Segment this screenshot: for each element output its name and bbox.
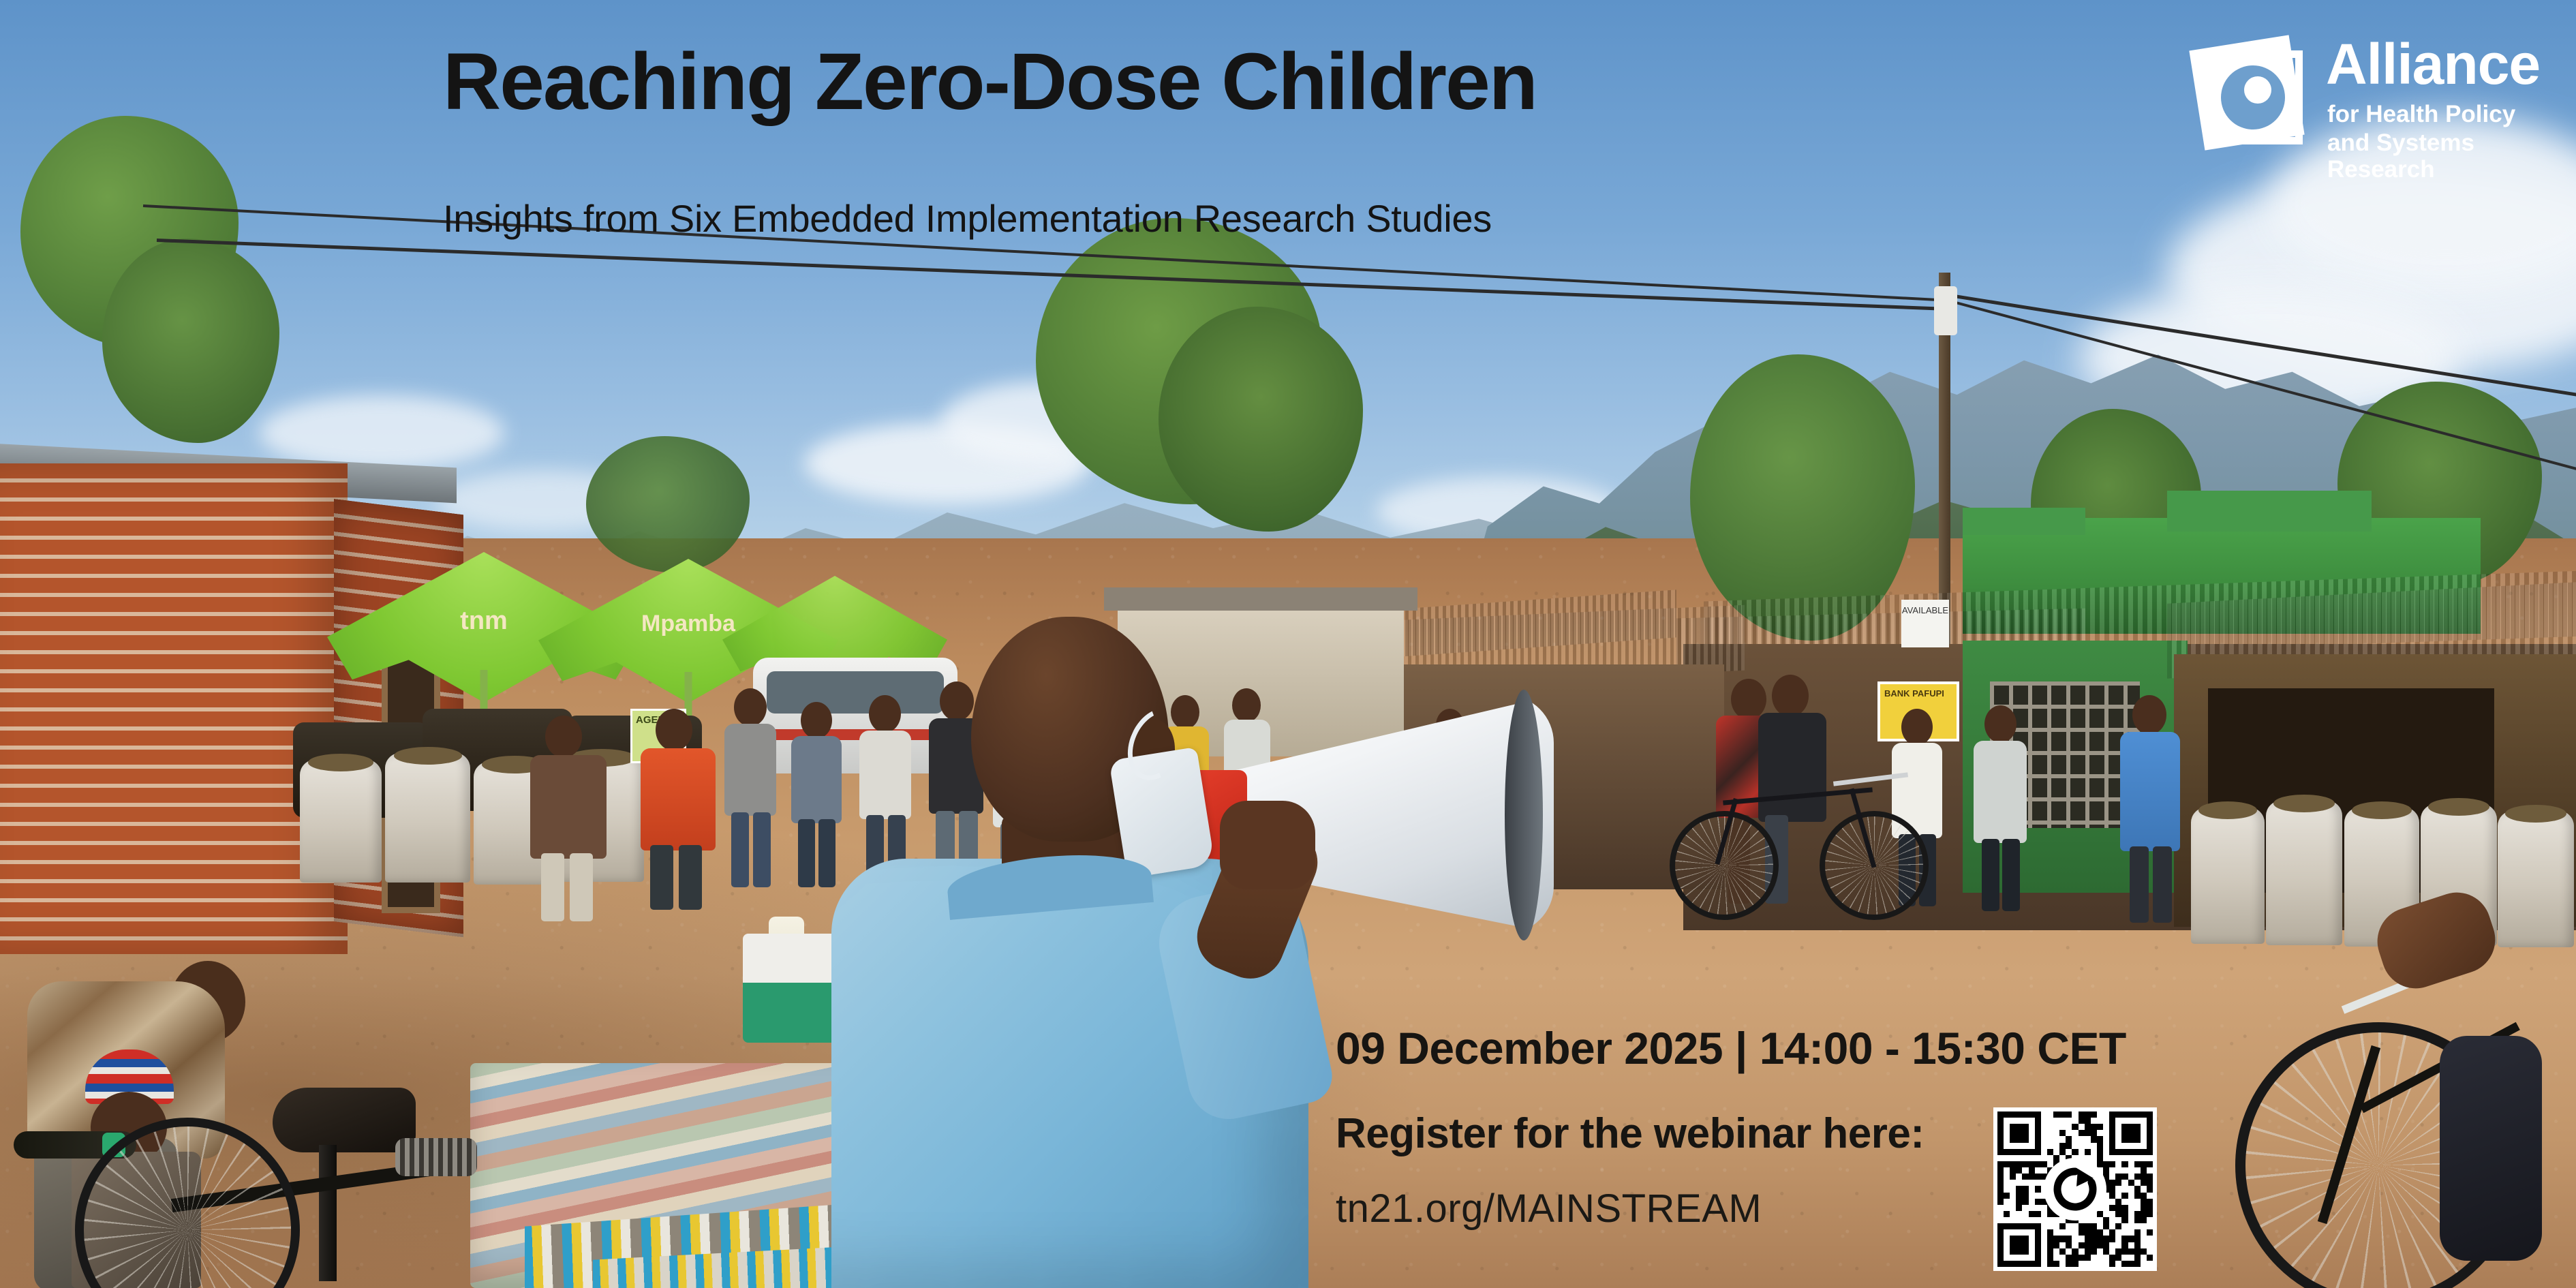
qr-module [2109, 1211, 2115, 1217]
qr-module [2141, 1255, 2147, 1261]
qr-module [2115, 1118, 2121, 1124]
qr-module [2115, 1174, 2121, 1180]
qr-module [2072, 1236, 2078, 1242]
qr-module [2115, 1180, 2121, 1186]
qr-module [2103, 1248, 2109, 1255]
qr-module [2016, 1193, 2022, 1199]
bicycle-saddle [273, 1088, 416, 1152]
qr-module [2109, 1155, 2115, 1161]
qr-module [2072, 1229, 2078, 1236]
qr-module [2097, 1118, 2103, 1124]
qr-module [2079, 1136, 2085, 1142]
circular-arrow-icon [2051, 1165, 2100, 1214]
qr-module [2047, 1118, 2053, 1124]
qr-module [2041, 1261, 2047, 1267]
qr-module [2147, 1205, 2153, 1211]
qr-module [2115, 1199, 2121, 1205]
qr-module [2053, 1229, 2059, 1236]
man-with-megaphone [811, 617, 1329, 1288]
qr-module [2035, 1167, 2041, 1174]
qr-module [2022, 1180, 2028, 1186]
person-head [1984, 705, 2017, 743]
qr-module [2066, 1223, 2072, 1229]
qr-module [2072, 1149, 2078, 1155]
qr-module [2103, 1161, 2109, 1167]
qr-module [2091, 1242, 2097, 1248]
qr-module [2029, 1130, 2035, 1136]
qr-module [2103, 1217, 2109, 1223]
qr-module [2066, 1143, 2072, 1149]
qr-module [2097, 1229, 2103, 1236]
qr-module [2010, 1174, 2016, 1180]
qr-module [2109, 1149, 2115, 1155]
bicycle-springs [395, 1138, 477, 1176]
qr-module [2141, 1261, 2147, 1267]
qr-module [2121, 1167, 2128, 1174]
qr-module [2004, 1205, 2010, 1211]
alliance-logo-icon [2191, 40, 2314, 162]
qr-module [2128, 1186, 2134, 1192]
qr-module [2147, 1130, 2153, 1136]
qr-module [2047, 1255, 2053, 1261]
qr-module [2128, 1199, 2134, 1205]
qr-module [2141, 1136, 2147, 1142]
qr-module [2035, 1211, 2041, 1217]
person [634, 709, 722, 906]
qr-module [2128, 1261, 2134, 1267]
qr-module [2059, 1255, 2066, 1261]
qr-module [2128, 1255, 2134, 1261]
qr-module [2041, 1248, 2047, 1255]
qr-module [2016, 1186, 2022, 1192]
qr-module [2097, 1248, 2103, 1255]
qr-module [2004, 1186, 2010, 1192]
qr-module [2128, 1248, 2134, 1255]
qr-module [2115, 1193, 2121, 1199]
qr-module [2016, 1248, 2022, 1255]
qr-module [2016, 1180, 2022, 1186]
qr-module [2047, 1136, 2053, 1142]
qr-module [2134, 1124, 2141, 1130]
qr-module [2103, 1261, 2109, 1267]
qr-module [2079, 1229, 2085, 1236]
qr-module [2115, 1155, 2121, 1161]
qr-module [1997, 1211, 2004, 1217]
qr-module [2115, 1217, 2121, 1223]
qr-module [2097, 1236, 2103, 1242]
qr-module [2091, 1130, 2097, 1136]
qr-module [2103, 1155, 2109, 1161]
qr-module [2091, 1229, 2097, 1236]
registration-qr-code[interactable] [1993, 1107, 2157, 1271]
qr-module [2004, 1118, 2010, 1124]
qr-module [2103, 1211, 2109, 1217]
qr-module [2091, 1136, 2097, 1142]
qr-module [2115, 1167, 2121, 1174]
qr-module [2115, 1248, 2121, 1255]
qr-module [2079, 1242, 2085, 1248]
qr-module [2128, 1223, 2134, 1229]
bicycle-seatpost [319, 1145, 337, 1281]
qr-module [1997, 1223, 2004, 1229]
qr-module [2022, 1248, 2028, 1255]
person-torso [641, 748, 716, 850]
qr-module [2010, 1242, 2016, 1248]
qr-module [2029, 1186, 2035, 1192]
qr-module [2029, 1217, 2035, 1223]
qr-module [2091, 1149, 2097, 1155]
qr-module [2121, 1186, 2128, 1192]
qr-module [2141, 1242, 2147, 1248]
qr-module [2041, 1223, 2047, 1229]
qr-module [2128, 1193, 2134, 1199]
qr-module [2010, 1111, 2016, 1118]
qr-module [2004, 1124, 2010, 1130]
qr-module [2141, 1149, 2147, 1155]
qr-module [2041, 1111, 2047, 1118]
qr-module [2053, 1118, 2059, 1124]
qr-module [2134, 1180, 2141, 1186]
qr-module [1997, 1242, 2004, 1248]
qr-module [2079, 1118, 2085, 1124]
event-datetime: 09 December 2025 | 14:00 - 15:30 CET [1336, 1022, 2126, 1074]
qr-module [2072, 1124, 2078, 1130]
qr-module [2022, 1167, 2028, 1174]
qr-module [2072, 1261, 2078, 1267]
qr-module [2134, 1261, 2141, 1267]
qr-module [2103, 1223, 2109, 1229]
qr-module [2035, 1149, 2041, 1155]
qr-module [2053, 1223, 2059, 1229]
qr-module [2109, 1143, 2115, 1149]
qr-module [2121, 1180, 2128, 1186]
qr-module [2115, 1143, 2121, 1149]
qr-module [2041, 1155, 2047, 1161]
qr-module [1997, 1236, 2004, 1242]
qr-module [2141, 1118, 2147, 1124]
qr-module [2035, 1199, 2041, 1205]
qr-module [2109, 1248, 2115, 1255]
qr-module [2128, 1111, 2134, 1118]
qr-module [2053, 1143, 2059, 1149]
qr-module [2091, 1248, 2097, 1255]
qr-module [2147, 1199, 2153, 1205]
qr-module [2004, 1211, 2010, 1217]
qr-module [2085, 1124, 2091, 1130]
qr-module [2035, 1124, 2041, 1130]
person-head [545, 716, 582, 758]
qr-module [2066, 1149, 2072, 1155]
qr-module [2147, 1136, 2153, 1142]
qr-module [2079, 1261, 2085, 1267]
qr-module [2097, 1149, 2103, 1155]
qr-module [2079, 1124, 2085, 1130]
qr-module [2134, 1248, 2141, 1255]
logo-inner-dot [2244, 76, 2271, 104]
qr-module [2121, 1217, 2128, 1223]
qr-module [2004, 1161, 2010, 1167]
qr-module [2035, 1111, 2041, 1118]
qr-module [2029, 1261, 2035, 1267]
qr-module [2041, 1143, 2047, 1149]
qr-module [2128, 1161, 2134, 1167]
qr-module [2029, 1211, 2035, 1217]
qr-module [2004, 1149, 2010, 1155]
qr-module [2147, 1161, 2153, 1167]
qr-module [2121, 1136, 2128, 1142]
qr-module [2047, 1155, 2053, 1161]
qr-module [2010, 1118, 2016, 1124]
qr-module [2022, 1223, 2028, 1229]
qr-module [2010, 1124, 2016, 1130]
qr-module [2141, 1167, 2147, 1174]
qr-module [2109, 1255, 2115, 1261]
qr-module [2115, 1186, 2121, 1192]
qr-module [1997, 1111, 2004, 1118]
brick-building [0, 463, 348, 954]
qr-module [2047, 1149, 2053, 1155]
brick-wall [0, 463, 348, 954]
qr-module [2109, 1193, 2115, 1199]
qr-module [2059, 1124, 2066, 1130]
qr-module [2115, 1130, 2121, 1136]
person-leg [2002, 839, 2020, 911]
qr-module [2128, 1149, 2134, 1155]
umbrella-brand-label: tnm [460, 608, 508, 634]
qr-module [1997, 1193, 2004, 1199]
qr-module [2091, 1261, 2097, 1267]
qr-module [2097, 1242, 2103, 1248]
qr-module [2059, 1143, 2066, 1149]
qr-module [2134, 1111, 2141, 1118]
person-leg [541, 853, 564, 921]
qr-module [2035, 1118, 2041, 1124]
qr-module [2141, 1124, 2147, 1130]
qr-module [2004, 1111, 2010, 1118]
qr-module [2134, 1211, 2141, 1217]
qr-module [2010, 1261, 2016, 1267]
qr-module [2029, 1161, 2035, 1167]
qr-module [2041, 1242, 2047, 1248]
qr-module [2109, 1199, 2115, 1205]
qr-module [2010, 1136, 2016, 1142]
qr-module [2010, 1211, 2016, 1217]
person-torso [1758, 713, 1826, 822]
qr-module [2016, 1261, 2022, 1267]
qr-module [2053, 1248, 2059, 1255]
qr-module [2010, 1223, 2016, 1229]
qr-module [2097, 1261, 2103, 1267]
qr-module [2109, 1186, 2115, 1192]
qr-module [2147, 1155, 2153, 1161]
qr-module [2010, 1130, 2016, 1136]
qr-module [2029, 1143, 2035, 1149]
person-torso [530, 755, 607, 859]
qr-module [2022, 1229, 2028, 1236]
qr-module [2109, 1205, 2115, 1211]
qr-module [2041, 1217, 2047, 1223]
qr-module [2035, 1242, 2041, 1248]
qr-module [2035, 1229, 2041, 1236]
qr-module [2103, 1118, 2109, 1124]
qr-module [2103, 1167, 2109, 1174]
qr-module [2004, 1143, 2010, 1149]
qr-module [2010, 1180, 2016, 1186]
qr-module [2128, 1180, 2134, 1186]
qr-module [2022, 1186, 2028, 1192]
qr-module [2029, 1199, 2035, 1205]
qr-module [2121, 1223, 2128, 1229]
qr-module [2085, 1118, 2091, 1124]
qr-module [2121, 1118, 2128, 1124]
qr-module [2115, 1255, 2121, 1261]
qr-module [2059, 1229, 2066, 1236]
person-leg [731, 812, 749, 887]
pole-transformer [1934, 286, 1957, 335]
qr-module [2103, 1124, 2109, 1130]
qr-module [2103, 1130, 2109, 1136]
qr-module [2004, 1229, 2010, 1236]
qr-module [2041, 1255, 2047, 1261]
qr-module [2029, 1167, 2035, 1174]
register-label: Register for the webinar here: [1336, 1109, 1925, 1158]
foreground-cyclist [2222, 906, 2576, 1288]
cyclist-leg [2440, 1036, 2542, 1261]
qr-module [2109, 1118, 2115, 1124]
qr-module [2029, 1111, 2035, 1118]
qr-module [2016, 1242, 2022, 1248]
qr-module [2072, 1255, 2078, 1261]
qr-module [2128, 1174, 2134, 1180]
bicycle-wheel [1670, 811, 1779, 920]
qr-module [2016, 1161, 2022, 1167]
person [1969, 705, 2031, 910]
qr-module [2010, 1193, 2016, 1199]
qr-module [2066, 1255, 2072, 1261]
qr-module [2147, 1211, 2153, 1217]
qr-module [2115, 1261, 2121, 1267]
qr-module [2115, 1161, 2121, 1167]
qr-module [2047, 1261, 2053, 1267]
qr-module [2091, 1124, 2097, 1130]
qr-module [2103, 1143, 2109, 1149]
qr-module [2134, 1229, 2141, 1236]
qr-module [2121, 1248, 2128, 1255]
qr-module [2010, 1149, 2016, 1155]
qr-module [2004, 1255, 2010, 1261]
qr-module [2022, 1211, 2028, 1217]
qr-module [2016, 1136, 2022, 1142]
qr-module [2059, 1118, 2066, 1124]
qr-module [2128, 1205, 2134, 1211]
qr-module [2128, 1136, 2134, 1142]
qr-module [2115, 1223, 2121, 1229]
qr-module [2091, 1118, 2097, 1124]
qr-module [2016, 1111, 2022, 1118]
qr-module [2079, 1248, 2085, 1255]
qr-module [2041, 1136, 2047, 1142]
qr-module [2097, 1143, 2103, 1149]
qr-module [2134, 1199, 2141, 1205]
qr-module [2085, 1255, 2091, 1261]
qr-module [2085, 1229, 2091, 1236]
qr-module [2079, 1255, 2085, 1261]
qr-module [2010, 1236, 2016, 1242]
qr-module [2059, 1136, 2066, 1142]
qr-module [2029, 1223, 2035, 1229]
qr-module [2059, 1149, 2066, 1155]
qr-module [2016, 1143, 2022, 1149]
qr-module [2109, 1180, 2115, 1186]
registration-url[interactable]: tn21.org/MAINSTREAM [1336, 1186, 1762, 1231]
logo-wordmark: Alliance [2326, 35, 2540, 93]
qr-module [2016, 1124, 2022, 1130]
qr-module [2085, 1143, 2091, 1149]
qr-module [2016, 1149, 2022, 1155]
qr-module [2121, 1161, 2128, 1167]
qr-module [2029, 1136, 2035, 1142]
qr-module [2085, 1248, 2091, 1255]
shop-sign-available: AVAILABLE [1901, 600, 1949, 647]
qr-module [2134, 1255, 2141, 1261]
qr-module [2097, 1130, 2103, 1136]
qr-module [2047, 1111, 2053, 1118]
qr-module [2109, 1242, 2115, 1248]
qr-module [2041, 1205, 2047, 1211]
qr-module [2134, 1217, 2141, 1223]
qr-module [2010, 1143, 2016, 1149]
qr-module [2141, 1155, 2147, 1161]
qr-module [2053, 1130, 2059, 1136]
qr-module [2134, 1167, 2141, 1174]
qr-module [2079, 1236, 2085, 1242]
logo-tagline-line2: and Systems Research [2327, 129, 2559, 183]
qr-module [2022, 1217, 2028, 1223]
qr-module [2004, 1130, 2010, 1136]
qr-module [2097, 1111, 2103, 1118]
qr-module [2022, 1111, 2028, 1118]
qr-module [2035, 1217, 2041, 1223]
qr-module [2121, 1229, 2128, 1236]
qr-module [1997, 1136, 2004, 1142]
qr-module [2072, 1130, 2078, 1136]
person-leg [650, 845, 673, 910]
qr-module [2072, 1118, 2078, 1124]
qr-module [2134, 1161, 2141, 1167]
person-head [1772, 675, 1809, 717]
qr-module [2128, 1236, 2134, 1242]
qr-module [2097, 1223, 2103, 1229]
person-leg [679, 845, 702, 910]
qr-module [2085, 1136, 2091, 1142]
qr-module [2109, 1229, 2115, 1236]
qr-module [2053, 1136, 2059, 1142]
person-torso [724, 724, 776, 816]
qr-module [1997, 1124, 2004, 1130]
qr-module [2109, 1111, 2115, 1118]
qr-module [2004, 1174, 2010, 1180]
qr-module [2029, 1155, 2035, 1161]
qr-module [2035, 1205, 2041, 1211]
qr-module [2121, 1193, 2128, 1199]
qr-module [2141, 1229, 2147, 1236]
umbrella-brand-label: Mpamba [641, 612, 735, 635]
qr-module [2047, 1143, 2053, 1149]
qr-module [2097, 1217, 2103, 1223]
qr-module [2035, 1236, 2041, 1242]
qr-module [2035, 1174, 2041, 1180]
qr-module [2041, 1149, 2047, 1155]
